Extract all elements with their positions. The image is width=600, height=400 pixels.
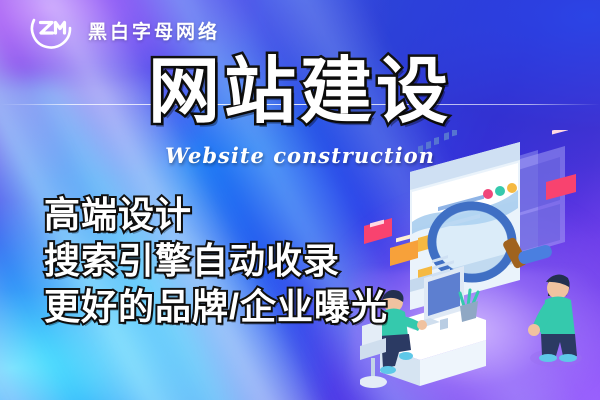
company-name: 黑白字母网络	[88, 17, 220, 44]
feature-list: 高端设计 搜索引擎自动收录 更好的品牌/企业曝光	[44, 192, 388, 330]
brand-header: 黑白字母网络	[28, 8, 220, 52]
page-title: 网站建设	[0, 56, 600, 128]
website-building-illustration	[360, 130, 600, 400]
zm-circle-logo-icon	[28, 8, 76, 52]
page-subtitle: Website construction	[0, 143, 600, 168]
feature-item-3: 更好的品牌/企业曝光	[44, 284, 388, 330]
feature-item-2: 搜索引擎自动收录	[44, 238, 388, 284]
feature-item-1: 高端设计	[44, 192, 388, 238]
promo-banner: 黑白字母网络 网站建设 Website construction 高端设计 搜索…	[0, 0, 600, 400]
person-holding-magnifier	[528, 274, 582, 367]
